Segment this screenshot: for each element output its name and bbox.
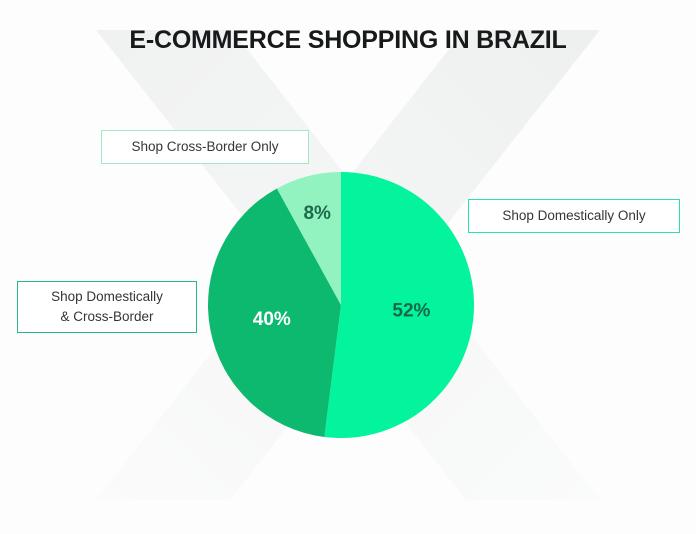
pie-slice-label-cross-border-only: 8% (303, 203, 331, 224)
pie-chart: 52% 40% 8% (208, 172, 474, 438)
callout-cross-border-only[interactable]: Shop Cross-Border Only (101, 130, 309, 164)
infographic-canvas: E-COMMERCE SHOPPING IN BRAZIL 52% 40% 8%… (0, 0, 696, 534)
pie-slice-label-domestically-and-cross-border: 40% (253, 309, 291, 330)
callout-domestically-and-cross-border[interactable]: Shop Domestically & Cross-Border (17, 281, 197, 333)
callout-domestically-only[interactable]: Shop Domestically Only (468, 199, 680, 233)
page-title: E-COMMERCE SHOPPING IN BRAZIL (0, 26, 696, 55)
pie-slice-label-domestically-only: 52% (392, 300, 430, 321)
